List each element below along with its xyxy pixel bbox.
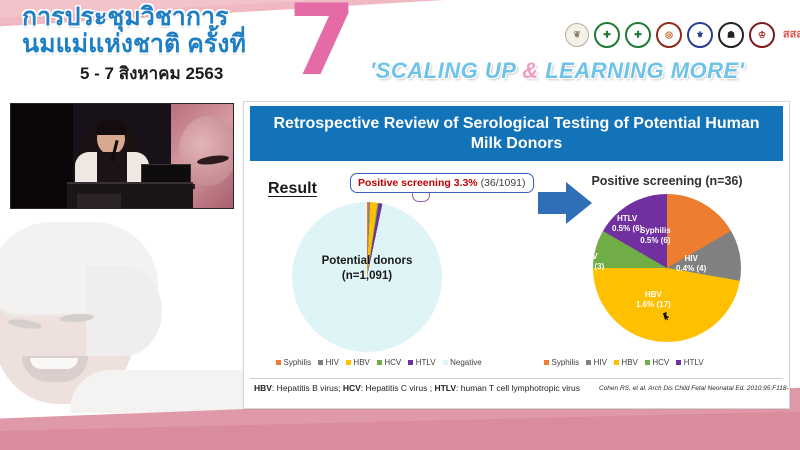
legend2-item-syphilis: Syphilis — [544, 358, 579, 367]
footnote-hcv-key: HCV — [343, 383, 361, 393]
legend2-label-syphilis: Syphilis — [552, 358, 580, 367]
pie-chart-positive-title: Positive screening (n=36) — [562, 174, 772, 188]
conference-thai-title: การประชุมวิชาการ นมแม่แห่งชาติ ครั้งที่ — [22, 4, 522, 58]
legend2-label-htlv: HTLV — [684, 358, 704, 367]
legend2-item-hcv: HCV — [645, 358, 669, 367]
logo-breastfeeding-center-icon: ☗ — [718, 22, 744, 48]
logo-thai-health-sss-icon: สสส — [780, 24, 800, 46]
footnote-hcv-value: : Hepatitis C virus ; — [361, 383, 435, 393]
legend-swatch-hcv — [377, 360, 382, 365]
speaker-video-feed[interactable] — [10, 103, 234, 209]
logo-royal-college-icon: ◎ — [656, 22, 682, 48]
slogan-part2: LEARNING MORE' — [539, 58, 745, 83]
legend2-swatch-htlv — [676, 360, 681, 365]
slice-htlv-value: 0.5% (6) — [612, 224, 642, 234]
footnote-divider — [250, 378, 783, 379]
slice-hbv-value: 1.6% (17) — [636, 300, 671, 310]
conference-banner: 7 การประชุมวิชาการ นมแม่แห่งชาติ ครั้งที… — [0, 0, 800, 95]
logo-ministry-public-health-1-icon: ✚ — [594, 22, 620, 48]
legend-label-hcv: HCV — [384, 358, 401, 367]
footnote-htlv-key: HTLV — [434, 383, 456, 393]
potential-donors-text: Potential donors — [292, 254, 442, 269]
conference-slogan: 'SCALING UP & LEARNING MORE' — [370, 58, 790, 84]
pie-slice-label-hbv: HBV 1.6% (17) — [636, 290, 671, 310]
slice-htlv-name: HTLV — [612, 214, 642, 224]
pie-slice-label-syphilis: Syphilis 0.5% (6) — [640, 226, 671, 246]
slogan-part1: 'SCALING UP — [370, 58, 522, 83]
callout-pointer-bracket — [412, 193, 430, 202]
legend-label-hbv: HBV — [353, 358, 369, 367]
logo-ministry-public-health-2-icon: ✚ — [625, 22, 651, 48]
sponsor-logo-row: ❦ ✚ ✚ ◎ ⚜ ☗ ♔ สสส — [565, 22, 800, 48]
legend-swatch-htlv — [408, 360, 413, 365]
abbreviation-footnote: HBV: Hepatitis B virus; HCV: Hepatitis C… — [254, 383, 580, 393]
footnote-htlv-value: : human T cell lymphotropic virus — [456, 383, 580, 393]
legend-left-pie: Syphilis HIV HBV HCV HTLV Negative — [276, 358, 482, 367]
logo-university-icon: ♔ — [749, 22, 775, 48]
legend-item-htlv: HTLV — [408, 358, 435, 367]
child-shoulder — [70, 370, 244, 413]
pie-slice-label-hiv: HIV 0.4% (4) — [676, 254, 706, 274]
legend-right-pie: Syphilis HIV HBV HCV HTLV — [544, 358, 704, 367]
pie-slice-label-htlv: HTLV 0.5% (6) — [612, 214, 642, 234]
callout-highlight-text: Positive screening 3.3% — [358, 177, 478, 189]
legend-swatch-syphilis — [276, 360, 281, 365]
logo-thai-royal-emblem-icon: ❦ — [565, 23, 589, 47]
slogan-ampersand: & — [522, 58, 538, 83]
conference-thai-title-line2: นมแม่แห่งชาติ ครั้งที่ — [22, 31, 522, 58]
legend-item-hbv: HBV — [346, 358, 370, 367]
pie-chart-potential-donors-label: Potential donors (n=1,091) — [292, 254, 442, 284]
logo-thai-pediatric-society-icon: ⚜ — [687, 22, 713, 48]
slice-syphilis-value: 0.5% (6) — [640, 236, 671, 246]
legend-label-htlv: HTLV — [416, 358, 436, 367]
footnote-hbv-value: : Hepatitis B virus; — [272, 383, 343, 393]
potential-donors-count: (n=1,091) — [292, 269, 442, 284]
legend-swatch-negative — [443, 360, 448, 365]
presentation-slide: Retrospective Review of Serological Test… — [243, 101, 790, 409]
child-hat-brim — [86, 266, 162, 356]
slice-hiv-name: HIV — [676, 254, 706, 264]
conference-thai-title-line1: การประชุมวิชาการ — [22, 3, 228, 31]
result-heading: Result — [268, 180, 317, 198]
slice-hiv-value: 0.4% (4) — [676, 264, 706, 274]
slice-syphilis-name: Syphilis — [640, 226, 671, 236]
conference-date: 5 - 7 สิงหาคม 2563 — [80, 60, 223, 87]
screen-root: 7 การประชุมวิชาการ นมแม่แห่งชาติ ครั้งที… — [0, 0, 800, 450]
positive-screening-callout: Positive screening 3.3% (36/1091) — [350, 173, 534, 193]
footnote-hbv-key: HBV — [254, 383, 272, 393]
legend-item-hiv: HIV — [318, 358, 339, 367]
slice-hcv-name: HCV — [574, 252, 604, 262]
legend-label-negative: Negative — [450, 358, 482, 367]
slide-title: Retrospective Review of Serological Test… — [250, 106, 783, 161]
speaker-fringe — [95, 120, 127, 135]
video-background-left — [11, 104, 73, 208]
legend-item-negative: Negative — [443, 358, 482, 367]
slice-hcv-value: 0.3% (3) — [574, 262, 604, 272]
legend2-item-hiv: HIV — [586, 358, 607, 367]
legend2-swatch-hcv — [645, 360, 650, 365]
legend-item-hcv: HCV — [377, 358, 401, 367]
legend2-item-htlv: HTLV — [676, 358, 703, 367]
legend2-label-hbv: HBV — [621, 358, 637, 367]
legend-item-syphilis: Syphilis — [276, 358, 311, 367]
child-teeth — [30, 358, 78, 369]
legend-label-hiv: HIV — [326, 358, 339, 367]
legend-swatch-hbv — [346, 360, 351, 365]
legend2-label-hcv: HCV — [652, 358, 669, 367]
legend2-swatch-hbv — [614, 360, 619, 365]
podium-front-panel — [77, 194, 121, 208]
legend2-label-hiv: HIV — [594, 358, 607, 367]
legend-swatch-hiv — [318, 360, 323, 365]
legend2-swatch-hiv — [586, 360, 591, 365]
legend-label-syphilis: Syphilis — [284, 358, 312, 367]
pie-slice-label-hcv: HCV 0.3% (3) — [574, 252, 604, 272]
background-child-photo — [0, 208, 244, 413]
callout-detail-text: (36/1091) — [481, 177, 526, 189]
source-citation: Cohen RS, et al. Arch Dis Child Fetal Ne… — [599, 385, 790, 392]
slice-hbv-name: HBV — [636, 290, 671, 300]
legend2-item-hbv: HBV — [614, 358, 638, 367]
legend2-swatch-syphilis — [544, 360, 549, 365]
